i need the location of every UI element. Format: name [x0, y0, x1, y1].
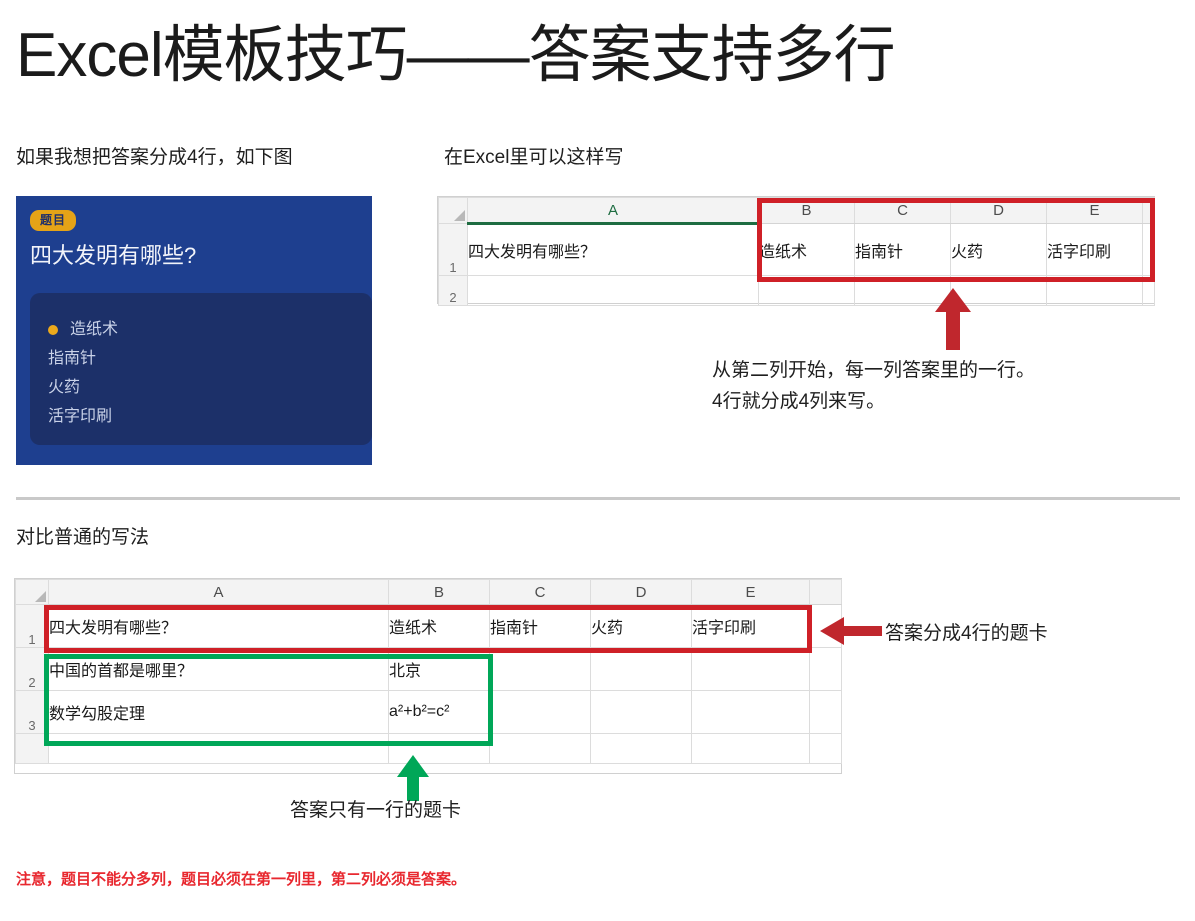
- column-header-f[interactable]: [1143, 198, 1155, 224]
- answer-label: 活字印刷: [48, 402, 112, 431]
- cell-c1[interactable]: 指南针: [855, 224, 951, 276]
- note-top: 从第二列开始，每一列答案里的一行。 4行就分成4列来写。: [712, 355, 1035, 417]
- cell-c3[interactable]: [490, 691, 591, 734]
- answer-item: 活字印刷: [48, 402, 372, 431]
- question-badge: 题目: [30, 210, 76, 231]
- row-header-4[interactable]: [16, 734, 49, 764]
- answer-item: 火药: [48, 373, 372, 402]
- column-header-a[interactable]: A: [49, 580, 389, 605]
- table-row[interactable]: 2 中国的首都是哪里？ 北京: [16, 648, 842, 691]
- arrow-up-icon-red: [931, 288, 975, 350]
- cell-f4[interactable]: [810, 734, 842, 764]
- cell-c1[interactable]: 指南针: [490, 605, 591, 648]
- cell-a3[interactable]: 数学勾股定理: [49, 691, 389, 734]
- bullet-icon: [48, 325, 58, 335]
- cell-a1[interactable]: 四大发明有哪些？: [49, 605, 389, 648]
- sheet-table[interactable]: A B C D E 1 四大发明有哪些？ 造纸术 指南针 火药 活字印刷 2: [438, 197, 1155, 306]
- cell-a2[interactable]: [468, 276, 759, 306]
- caption-left: 如果我想把答案分成4行，如下图: [16, 145, 293, 171]
- cell-e1[interactable]: 活字印刷: [1047, 224, 1143, 276]
- column-header-f[interactable]: [810, 580, 842, 605]
- row-header-3[interactable]: 3: [16, 691, 49, 734]
- row-header-2[interactable]: 2: [16, 648, 49, 691]
- answer-panel: 造纸术 指南针 火药 活字印刷: [30, 293, 372, 445]
- cell-e2[interactable]: [692, 648, 810, 691]
- cell-c4[interactable]: [490, 734, 591, 764]
- cell-d1[interactable]: 火药: [591, 605, 692, 648]
- cell-d2[interactable]: [591, 648, 692, 691]
- note-green: 答案只有一行的题卡: [290, 795, 461, 826]
- cell-c2[interactable]: [490, 648, 591, 691]
- column-header-b[interactable]: B: [389, 580, 490, 605]
- cell-b1[interactable]: 造纸术: [389, 605, 490, 648]
- cell-d4[interactable]: [591, 734, 692, 764]
- section-divider: [16, 497, 1180, 500]
- cell-d1[interactable]: 火药: [951, 224, 1047, 276]
- caption-compare: 对比普通的写法: [16, 525, 149, 551]
- cell-f1[interactable]: [1143, 224, 1155, 276]
- answer-item: 造纸术: [48, 315, 372, 344]
- caption-right: 在Excel里可以这样写: [444, 145, 623, 171]
- answer-label: 造纸术: [70, 315, 118, 344]
- table-row[interactable]: 2: [439, 276, 1155, 306]
- column-header-row: A B C D E: [16, 580, 842, 605]
- cell-a1[interactable]: 四大发明有哪些？: [468, 224, 759, 276]
- table-row[interactable]: 1 四大发明有哪些？ 造纸术 指南针 火药 活字印刷: [16, 605, 842, 648]
- select-all-corner[interactable]: [439, 198, 468, 224]
- cell-e4[interactable]: [692, 734, 810, 764]
- page-title: Excel模板技巧——答案支持多行: [16, 18, 895, 94]
- question-title: 四大发明有哪些?: [30, 241, 358, 271]
- warning-text: 注意，题目不能分多列，题目必须在第一列里，第二列必须是答案。: [16, 868, 466, 889]
- column-header-d[interactable]: D: [951, 198, 1047, 224]
- sheet-table[interactable]: A B C D E 1 四大发明有哪些？ 造纸术 指南针 火药 活字印刷 2 中…: [15, 579, 842, 764]
- column-header-e[interactable]: E: [1047, 198, 1143, 224]
- arrow-left-icon-red: [820, 615, 882, 647]
- cell-a4[interactable]: [49, 734, 389, 764]
- column-header-d[interactable]: D: [591, 580, 692, 605]
- select-all-triangle-icon: [35, 591, 46, 602]
- column-header-a[interactable]: A: [468, 198, 759, 224]
- row-header-1[interactable]: 1: [439, 224, 468, 276]
- question-card: 题目 四大发明有哪些? 造纸术 指南针 火药 活字印刷: [16, 196, 372, 465]
- column-header-c[interactable]: C: [490, 580, 591, 605]
- cell-b1[interactable]: 造纸术: [759, 224, 855, 276]
- select-all-corner[interactable]: [16, 580, 49, 605]
- cell-b2[interactable]: [759, 276, 855, 306]
- column-header-row: A B C D E: [439, 198, 1155, 224]
- cell-b2[interactable]: 北京: [389, 648, 490, 691]
- cell-f2[interactable]: [810, 648, 842, 691]
- answer-label: 火药: [48, 373, 80, 402]
- table-row[interactable]: 3 数学勾股定理 a²+b²=c²: [16, 691, 842, 734]
- cell-b3[interactable]: a²+b²=c²: [389, 691, 490, 734]
- column-header-b[interactable]: B: [759, 198, 855, 224]
- answer-label: 指南针: [48, 344, 96, 373]
- cell-d3[interactable]: [591, 691, 692, 734]
- cell-e2[interactable]: [1047, 276, 1143, 306]
- row-header-1[interactable]: 1: [16, 605, 49, 648]
- excel-sheet-top[interactable]: A B C D E 1 四大发明有哪些？ 造纸术 指南针 火药 活字印刷 2: [437, 196, 1155, 304]
- column-header-c[interactable]: C: [855, 198, 951, 224]
- answer-item: 指南针: [48, 344, 372, 373]
- excel-sheet-bottom[interactable]: A B C D E 1 四大发明有哪些？ 造纸术 指南针 火药 活字印刷 2 中…: [14, 578, 842, 774]
- column-header-e[interactable]: E: [692, 580, 810, 605]
- row-header-2[interactable]: 2: [439, 276, 468, 306]
- cell-a2[interactable]: 中国的首都是哪里？: [49, 648, 389, 691]
- table-row[interactable]: 1 四大发明有哪些？ 造纸术 指南针 火药 活字印刷: [439, 224, 1155, 276]
- cell-f2[interactable]: [1143, 276, 1155, 306]
- cell-e3[interactable]: [692, 691, 810, 734]
- cell-e1[interactable]: 活字印刷: [692, 605, 810, 648]
- note-red-right: 答案分成4行的题卡: [885, 618, 1048, 649]
- cell-f3[interactable]: [810, 691, 842, 734]
- select-all-triangle-icon: [454, 210, 465, 221]
